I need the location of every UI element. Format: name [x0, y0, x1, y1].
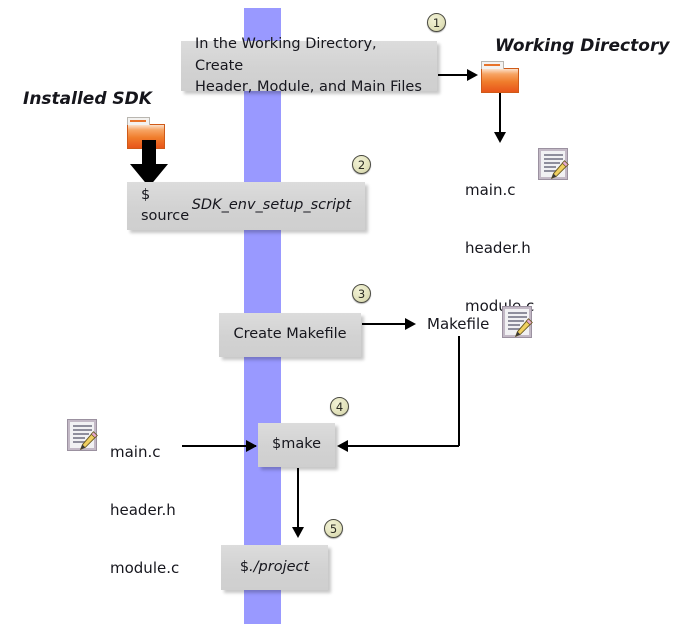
box-create-files[interactable]: In the Working Directory, Create Header,… — [181, 41, 437, 91]
box-run-project-prefix: $ — [240, 557, 249, 578]
arrowhead-make-to-project — [292, 527, 304, 538]
notepad-paper — [70, 422, 94, 448]
step-badge-3: 3 — [352, 284, 371, 303]
notepad-paper — [505, 309, 529, 335]
file-header-h: header.h — [465, 239, 534, 258]
step-badge-5: 5 — [324, 519, 343, 538]
working-dir-folder-icon — [481, 61, 519, 93]
box-run-project-italic: ./project — [249, 557, 309, 578]
box-create-makefile-text: Create Makefile — [233, 324, 346, 345]
step-badge-1: 1 — [427, 13, 446, 32]
folder-tab-stripe — [130, 120, 146, 122]
box-source-script-prefix: $ source — [141, 185, 192, 227]
box-make-text: $make — [272, 434, 321, 455]
box-create-files-line1: In the Working Directory, Create — [195, 34, 423, 76]
arrowhead-workdir-to-files — [494, 132, 506, 143]
notepad-line — [544, 154, 563, 156]
box-source-script-italic: SDK_env_setup_script — [192, 195, 351, 216]
source-files-editor-icon — [67, 419, 97, 451]
working-dir-editor-icon — [538, 148, 568, 180]
notepad-line — [73, 425, 92, 427]
box-run-project[interactable]: $ ./project — [221, 545, 328, 590]
source-file-list: main.c header.h module.c — [110, 405, 179, 616]
connector-workdir-to-files — [499, 93, 501, 136]
connector-makefile-down — [458, 336, 460, 446]
step-badge-2: 2 — [352, 155, 371, 174]
file-main-c: main.c — [465, 181, 534, 200]
label-working-directory: Working Directory — [495, 36, 669, 56]
pencil-icon — [512, 317, 534, 339]
arrowhead-sources-to-make — [246, 440, 257, 452]
notepad-line — [508, 312, 527, 314]
pencil-icon — [548, 159, 570, 181]
file-header-h: header.h — [110, 501, 179, 520]
connector-make-to-project — [297, 468, 299, 534]
step-badge-4: 4 — [330, 397, 349, 416]
box-source-script[interactable]: $ source SDK_env_setup_script — [127, 182, 365, 230]
box-create-files-text: In the Working Directory, Create Header,… — [195, 34, 423, 97]
connector-makefile-to-make — [346, 445, 459, 447]
arrow-sdk-to-source — [127, 140, 171, 188]
file-module-c: module.c — [110, 559, 179, 578]
connector-createmakefile-to-makefile — [362, 323, 410, 325]
folder-tab-stripe — [484, 64, 500, 66]
notepad-paper — [541, 151, 565, 177]
artifact-makefile-label: Makefile — [427, 315, 489, 334]
box-create-makefile[interactable]: Create Makefile — [219, 313, 361, 357]
arrowhead-createfiles-to-workdir — [467, 69, 478, 81]
box-make[interactable]: $make — [258, 423, 335, 467]
file-main-c: main.c — [110, 443, 179, 462]
makefile-editor-icon — [502, 306, 532, 338]
folder-body — [481, 68, 519, 93]
connector-sources-to-make — [182, 445, 256, 447]
box-create-files-line2: Header, Module, and Main Files — [195, 77, 423, 98]
arrowhead-createmakefile-to-makefile — [405, 318, 416, 330]
diagram-canvas: 1 In the Working Directory, Create Heade… — [0, 0, 687, 624]
arrowhead-makefile-to-make — [337, 440, 348, 452]
label-installed-sdk: Installed SDK — [23, 89, 152, 109]
pencil-icon — [77, 430, 99, 452]
